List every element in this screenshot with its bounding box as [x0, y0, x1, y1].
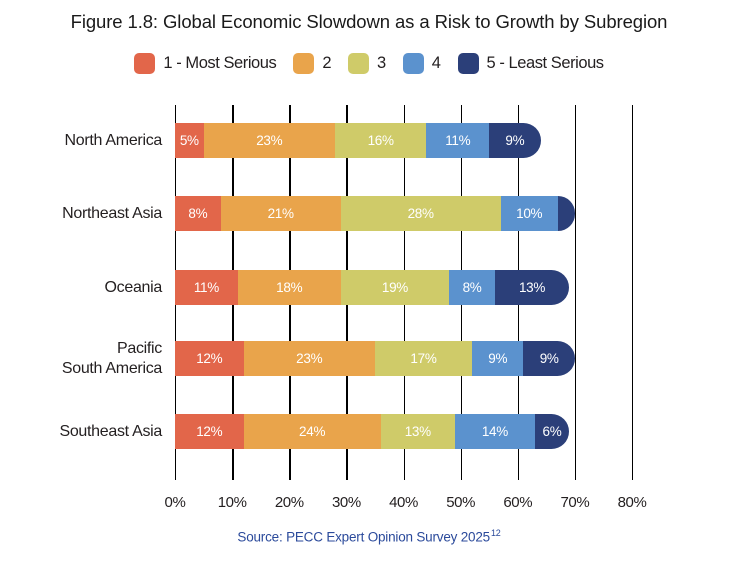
bar-segment-label: 9% [505, 133, 524, 148]
category-label-line: South America [0, 359, 162, 379]
bar-segment-label: 19% [382, 280, 408, 295]
legend-item[interactable]: 1 - Most Serious [134, 53, 276, 74]
bar-segment[interactable]: 23% [204, 123, 335, 158]
bar-segment-label: 14% [482, 424, 508, 439]
x-axis-tick-label: 80% [618, 494, 647, 511]
legend-swatch-icon [403, 53, 424, 74]
bar-segment[interactable] [558, 196, 575, 231]
bar-segment-label: 23% [256, 133, 282, 148]
bar-track: 11%18%19%8%13% [175, 270, 652, 305]
bar-segment-label: 12% [196, 424, 222, 439]
legend-item-label: 2 [322, 54, 331, 73]
legend-swatch-icon [348, 53, 369, 74]
legend-item-label: 4 [432, 54, 441, 73]
figure-title: Figure 1.8: Global Economic Slowdown as … [0, 11, 738, 33]
chart-legend: 1 - Most Serious2345 - Least Serious [0, 53, 738, 74]
legend-item-label: 3 [377, 54, 386, 73]
bar-segment-label: 18% [276, 280, 302, 295]
bar-segment[interactable]: 28% [341, 196, 501, 231]
bar-track: 5%23%16%11%9% [175, 123, 652, 158]
bar-row[interactable]: 11%18%19%8%13% [175, 270, 652, 305]
bar-segment[interactable]: 16% [335, 123, 426, 158]
bar-track: 12%23%17%9%9% [175, 341, 652, 376]
bar-track: 8%21%28%10% [175, 196, 652, 231]
bar-segment[interactable]: 23% [244, 341, 375, 376]
bar-segment[interactable]: 5% [175, 123, 204, 158]
bar-segment-label: 16% [368, 133, 394, 148]
legend-swatch-icon [293, 53, 314, 74]
x-axis-tick-label: 0% [165, 494, 186, 511]
category-label: Northeast Asia [0, 204, 162, 224]
legend-swatch-icon [458, 53, 479, 74]
category-label: North America [0, 131, 162, 151]
bar-segment-label: 13% [405, 424, 431, 439]
bar-segment-label: 28% [408, 206, 434, 221]
bar-segment[interactable]: 19% [341, 270, 450, 305]
bar-segment[interactable]: 9% [472, 341, 523, 376]
category-label: Oceania [0, 278, 162, 298]
bar-segment[interactable]: 6% [535, 414, 569, 449]
legend-swatch-icon [134, 53, 155, 74]
bar-segment[interactable]: 12% [175, 341, 244, 376]
bar-row[interactable]: 8%21%28%10% [175, 196, 652, 231]
x-axis-tick-label: 40% [389, 494, 418, 511]
bar-segment[interactable]: 21% [221, 196, 341, 231]
bar-segment[interactable]: 10% [501, 196, 558, 231]
category-axis-labels: North AmericaNortheast AsiaOceaniaPacifi… [0, 105, 162, 480]
source-footnote-marker: 12 [491, 528, 501, 538]
category-label: Southeast Asia [0, 422, 162, 442]
x-axis-tick-labels: 0%10%20%30%40%50%60%70%80% [0, 494, 738, 516]
stacked-bars: 5%23%16%11%9%8%21%28%10%11%18%19%8%13%12… [175, 105, 645, 480]
legend-item[interactable]: 5 - Least Serious [458, 53, 604, 74]
category-label-line: North America [0, 131, 162, 151]
bar-segment-label: 6% [543, 424, 562, 439]
x-axis-tick-label: 10% [218, 494, 247, 511]
bar-segment[interactable]: 13% [381, 414, 455, 449]
legend-item[interactable]: 3 [348, 53, 386, 74]
legend-item[interactable]: 4 [403, 53, 441, 74]
bar-segment-label: 8% [463, 280, 482, 295]
bar-segment-label: 9% [540, 351, 559, 366]
bar-segment-label: 5% [180, 133, 199, 148]
bar-segment-label: 21% [268, 206, 294, 221]
bar-segment[interactable]: 18% [238, 270, 341, 305]
bar-segment[interactable]: 13% [495, 270, 569, 305]
category-label: PacificSouth America [0, 339, 162, 379]
x-axis-tick-label: 30% [332, 494, 361, 511]
bar-segment-label: 8% [188, 206, 207, 221]
source-note: Source: PECC Expert Opinion Survey 20251… [0, 528, 738, 545]
category-label-line: Oceania [0, 278, 162, 298]
bar-row[interactable]: 12%23%17%9%9% [175, 341, 652, 376]
bar-row[interactable]: 5%23%16%11%9% [175, 123, 652, 158]
bar-segment-label: 11% [445, 133, 470, 148]
bar-segment-label: 9% [488, 351, 507, 366]
bar-segment[interactable]: 17% [375, 341, 472, 376]
source-text: Source: PECC Expert Opinion Survey 2025 [237, 530, 490, 545]
bar-segment-label: 10% [516, 206, 542, 221]
bar-segment-label: 23% [296, 351, 322, 366]
bar-segment[interactable]: 12% [175, 414, 244, 449]
x-axis-tick-label: 70% [560, 494, 589, 511]
bar-segment[interactable]: 14% [455, 414, 535, 449]
bar-segment-label: 24% [299, 424, 325, 439]
bar-segment-label: 17% [410, 351, 436, 366]
category-label-line: Pacific [0, 339, 162, 359]
bar-segment[interactable]: 11% [426, 123, 489, 158]
bar-segment[interactable]: 9% [523, 341, 574, 376]
x-axis-tick-label: 60% [503, 494, 532, 511]
x-axis-tick-label: 20% [275, 494, 304, 511]
bar-segment[interactable]: 8% [175, 196, 221, 231]
x-axis-tick-label: 50% [446, 494, 475, 511]
legend-item-label: 1 - Most Serious [163, 54, 276, 73]
bar-segment[interactable]: 11% [175, 270, 238, 305]
bar-row[interactable]: 12%24%13%14%6% [175, 414, 652, 449]
bar-segment[interactable]: 8% [449, 270, 495, 305]
bar-segment-label: 12% [196, 351, 222, 366]
legend-item[interactable]: 2 [293, 53, 331, 74]
category-label-line: Northeast Asia [0, 204, 162, 224]
legend-item-label: 5 - Least Serious [487, 54, 604, 73]
bar-segment-label: 13% [519, 280, 545, 295]
bar-track: 12%24%13%14%6% [175, 414, 652, 449]
bar-segment-label: 11% [194, 280, 219, 295]
figure-container: Figure 1.8: Global Economic Slowdown as … [0, 0, 738, 570]
bar-segment[interactable]: 24% [244, 414, 381, 449]
bar-segment[interactable]: 9% [489, 123, 540, 158]
category-label-line: Southeast Asia [0, 422, 162, 442]
